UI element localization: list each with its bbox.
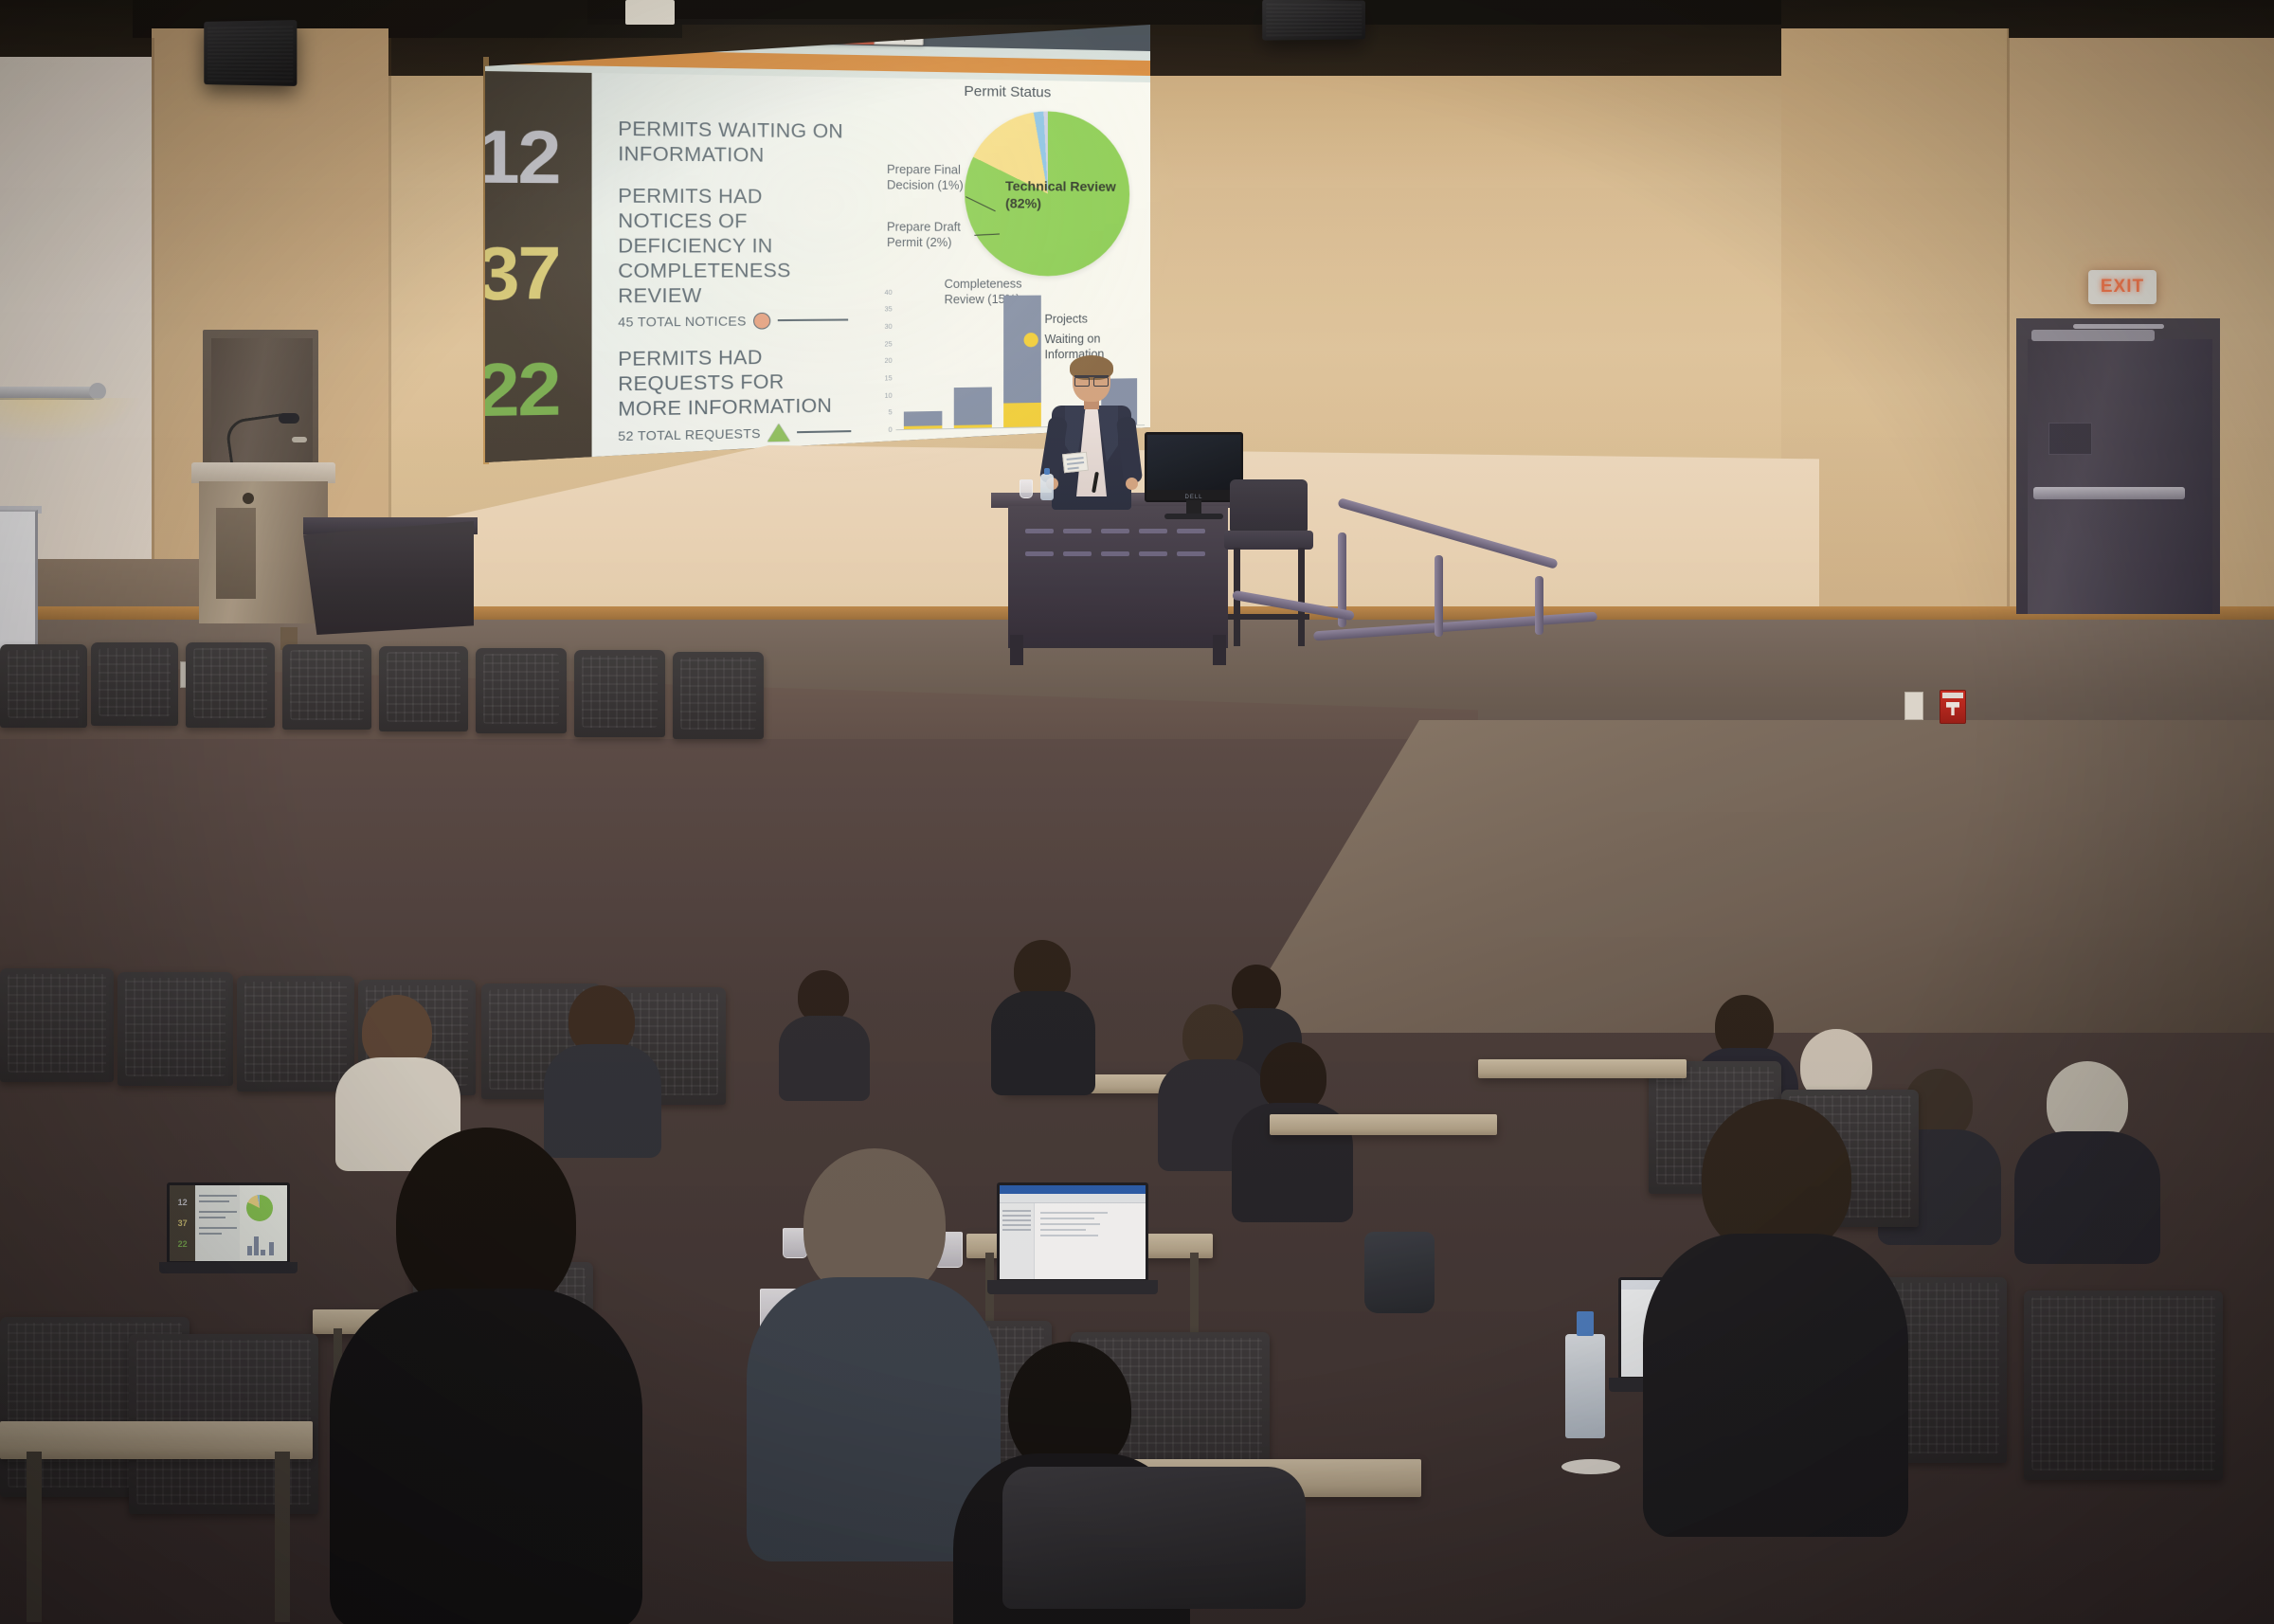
lectern	[191, 462, 335, 623]
y-tick: 40	[885, 289, 893, 296]
laptop-mirror-stat-1: 12	[178, 1198, 188, 1207]
stat-block-3: PERMITS HAD REQUESTS FOR MORE INFORMATIO…	[618, 346, 851, 445]
bar-projects	[954, 387, 992, 424]
laptop-mirror-bar	[254, 1236, 259, 1255]
pie-label-prepare-final-decision: Prepare Final Decision (1%)	[887, 163, 975, 194]
lectern-knob	[243, 493, 254, 504]
bottle-cap	[1044, 468, 1050, 475]
audience-laptop-mirroring-slide[interactable]: 12 37 22	[167, 1182, 290, 1264]
chair[interactable]	[379, 646, 468, 731]
legend-swatch-icon	[1023, 313, 1038, 327]
stat-sub-text-2: 45 TOTAL NOTICES	[618, 314, 747, 330]
stat-number-1: 12	[476, 123, 559, 192]
laptop-mirror-pie	[246, 1195, 273, 1221]
skirted-table-cloth	[303, 521, 474, 635]
door-handle-icon[interactable]	[292, 437, 307, 442]
person-body	[991, 991, 1095, 1095]
bar-waiting	[954, 424, 992, 428]
person-body	[779, 1016, 870, 1101]
ceiling-speaker-left	[204, 20, 297, 86]
y-tick: 5	[889, 409, 893, 416]
presenter-person	[1044, 358, 1139, 510]
desk-vent-slot	[1025, 551, 1054, 556]
bottle-cap	[1577, 1311, 1594, 1336]
laptop-screen	[1000, 1185, 1146, 1279]
person-body	[544, 1044, 661, 1158]
desk-vent-slot	[1101, 551, 1129, 556]
chair[interactable]	[282, 644, 371, 730]
y-tick: 20	[885, 358, 893, 365]
audience-desk	[1478, 1059, 1687, 1078]
legend-item-projects: Projects	[1023, 311, 1142, 327]
laptop-keyboard-base[interactable]	[987, 1280, 1157, 1294]
laptop-mirror-bar	[247, 1246, 252, 1255]
handrail-post	[1535, 576, 1543, 635]
handrail-return	[1232, 590, 1355, 621]
desk-vent-slot	[1139, 529, 1167, 533]
bar-waiting	[904, 425, 942, 429]
desk-vent-slot	[1063, 529, 1092, 533]
person-body	[330, 1289, 642, 1624]
water-bottle-presenter	[1040, 474, 1054, 500]
stat-headline-2: PERMITS HAD NOTICES OF DEFICIENCY IN COM…	[618, 185, 851, 310]
stat-block-2: PERMITS HAD NOTICES OF DEFICIENCY IN COM…	[618, 185, 851, 331]
stat-sub-3: 52 TOTAL REQUESTS	[618, 423, 851, 445]
desk-vent-slot	[1025, 529, 1054, 533]
paper-cup-presenter	[1020, 479, 1033, 498]
stat-sub-2: 45 TOTAL NOTICES	[618, 312, 851, 331]
ceiling-beam	[587, 0, 1781, 25]
door-closer	[2031, 330, 2155, 341]
pie-label-prepare-draft-permit: Prepare Draft Permit (2%)	[887, 221, 970, 251]
laptop-mirror-bar	[269, 1242, 274, 1255]
badge-line	[1067, 461, 1084, 465]
laptop-keyboard-base[interactable]	[159, 1262, 298, 1273]
y-tick: 10	[885, 392, 893, 399]
speaker-grill-icon	[208, 24, 293, 82]
desk-leg	[1010, 635, 1023, 665]
person-head	[1260, 1042, 1326, 1112]
exit-sign: EXIT	[2088, 270, 2157, 304]
chair[interactable]	[186, 642, 275, 728]
person-body	[1643, 1234, 1908, 1537]
y-tick: 35	[885, 306, 893, 313]
badge-line	[1067, 457, 1084, 460]
desk-vent-slot	[1177, 551, 1205, 556]
legend-label-projects: Projects	[1044, 311, 1088, 327]
screenshot-root: You're sharing your screen Stop 12 37 22…	[0, 0, 2274, 1624]
speaker-grill-icon	[1266, 4, 1362, 37]
stat-block-1: PERMITS WAITING ON INFORMATION	[618, 117, 851, 170]
wall-light-glow	[0, 398, 142, 443]
desk-leg	[27, 1452, 42, 1622]
lectern-front-panel	[216, 508, 256, 599]
y-tick: 30	[885, 324, 893, 331]
lectern-top	[191, 462, 335, 483]
desk-vent-slot	[1101, 529, 1129, 533]
door-closer-arm	[2073, 324, 2164, 329]
pie-chart-title: Permit Status	[964, 83, 1051, 101]
chair[interactable]	[574, 650, 665, 737]
handrail-post	[1435, 555, 1443, 637]
desk-vent-slot	[1177, 529, 1205, 533]
desk-vent-slot	[1139, 551, 1167, 556]
chair[interactable]	[0, 644, 87, 728]
chair[interactable]	[117, 972, 233, 1086]
bar-projects	[904, 411, 942, 425]
backpack	[1364, 1232, 1435, 1313]
door-right[interactable]	[2016, 318, 2220, 614]
pie-label-technical-review: Technical Review (82%)	[1005, 178, 1133, 212]
y-tick: 15	[885, 375, 893, 382]
eyeglasses-icon	[1074, 375, 1109, 383]
chair[interactable]	[91, 642, 178, 726]
microphone-head-icon	[279, 413, 299, 424]
desk-leg	[275, 1452, 290, 1622]
presenter-hand-right	[1126, 478, 1138, 490]
person-body	[2014, 1131, 2160, 1264]
laptop-screen: 12 37 22	[170, 1185, 287, 1261]
stat-sub-text-3: 52 TOTAL REQUESTS	[618, 425, 761, 443]
chair[interactable]	[2024, 1290, 2223, 1480]
chair[interactable]	[0, 968, 114, 1082]
stat-number-2: 37	[476, 240, 559, 309]
badge-line	[1068, 467, 1079, 470]
bar-group-region-5	[954, 292, 992, 428]
legend-swatch-icon	[1023, 333, 1038, 347]
draped-coat	[1002, 1467, 1306, 1609]
exit-sign-text: EXIT	[2101, 277, 2144, 298]
laptop-mirror-stat-3: 22	[178, 1239, 188, 1249]
y-tick: 25	[885, 341, 893, 348]
paper-plate	[1561, 1459, 1620, 1474]
laptop-mirror-stat-2: 37	[178, 1218, 188, 1228]
wall-switch-plate-right[interactable]	[1904, 692, 1923, 720]
fire-alarm-pull-handle-icon[interactable]	[1946, 702, 1959, 715]
projector-mount	[625, 0, 675, 25]
stat-headline-3: PERMITS HAD REQUESTS FOR MORE INFORMATIO…	[618, 346, 851, 424]
audience-desk	[1270, 1114, 1497, 1135]
chair[interactable]	[673, 652, 764, 739]
water-bottle-audience	[1565, 1334, 1605, 1438]
ceiling-speaker-right	[1262, 0, 1365, 41]
slide-text-column: PERMITS WAITING ON INFORMATION PERMITS H…	[592, 73, 865, 476]
laptop-mirror-bar	[261, 1250, 265, 1255]
fire-alarm-pull-station[interactable]	[1940, 690, 1966, 724]
marker-rule	[797, 430, 851, 433]
stat-headline-1: PERMITS WAITING ON INFORMATION	[618, 117, 851, 170]
bar-chart-y-axis: 40 35 30 25 20 15 10 5 0	[877, 293, 896, 431]
presenter-name-badge	[1062, 452, 1089, 474]
bar-group-region-4	[904, 293, 942, 429]
desk-vent-slot	[1063, 551, 1092, 556]
chair[interactable]	[476, 648, 567, 733]
pie-chart: Technical Review (82%) Prepare Final Dec…	[918, 110, 1134, 289]
marker-rule	[778, 319, 848, 322]
handrail-bar-lower	[1313, 612, 1597, 641]
triangle-marker-icon	[767, 424, 790, 442]
audience-laptop-center[interactable]	[997, 1182, 1148, 1282]
audience-desk-front-left	[0, 1421, 313, 1459]
door-slab	[2028, 339, 2212, 614]
chair[interactable]	[237, 976, 354, 1092]
bar-waiting	[1003, 403, 1040, 427]
desk-front-panel	[1008, 506, 1228, 648]
stat-number-3: 22	[476, 355, 559, 425]
fire-alarm-label	[1942, 693, 1963, 698]
monitor-base	[1164, 514, 1223, 519]
stage-handrail	[1222, 519, 1668, 671]
door-signage-plate	[2048, 423, 2092, 455]
circle-marker-icon	[753, 313, 770, 330]
door-push-bar[interactable]	[2033, 487, 2185, 499]
